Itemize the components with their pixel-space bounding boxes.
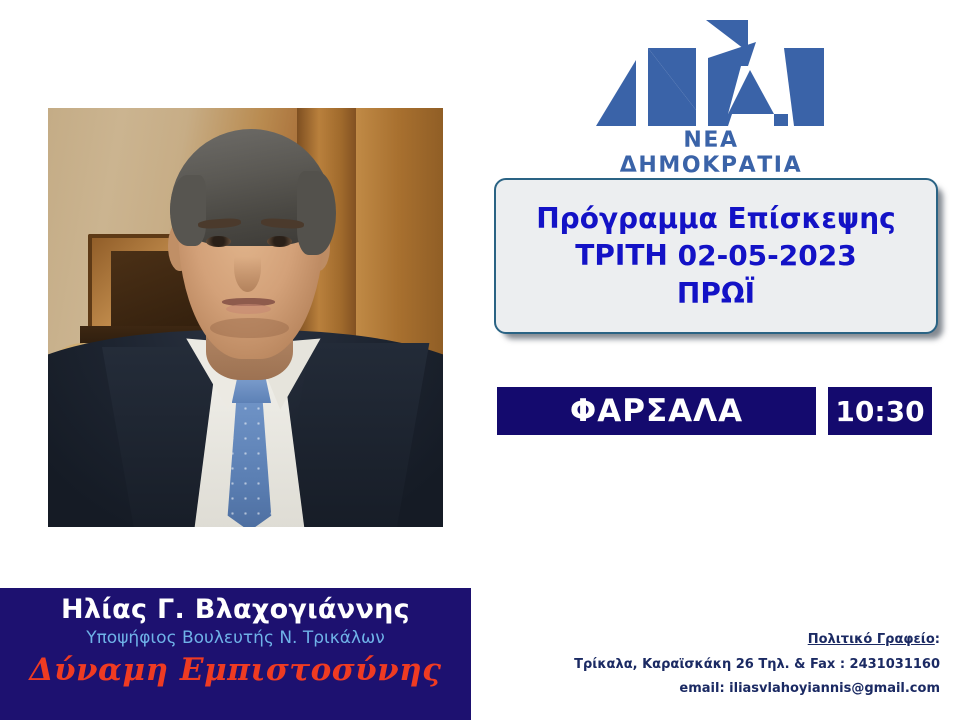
candidate-eye-right	[267, 236, 292, 247]
program-date: ΤΡΙΤΗ 02-05-2023	[575, 237, 856, 274]
candidate-name: Ηλίας Γ. Βλαχογιάννης	[61, 594, 410, 626]
candidate-role: Υποψήφιος Βουλευτής Ν. Τρικάλων	[86, 628, 385, 648]
contact-heading-colon: :	[935, 632, 940, 647]
candidate-photo	[48, 108, 443, 527]
program-title: Πρόγραμμα Επίσκεψης	[536, 200, 896, 237]
location-name: ΦΑΡΣΑΛΑ	[570, 393, 743, 429]
contact-heading: Πολιτικό Γραφείο	[808, 632, 935, 647]
party-wordmark: ΝΕΑ ΔΗΜΟΚΡΑΤΙΑ	[588, 128, 834, 178]
contact-heading-row: Πολιτικό Γραφείο:	[520, 628, 940, 653]
candidate-slogan: Δύναμη Εμπιστοσύνης	[29, 652, 441, 688]
contact-email[interactable]: email: iliasvlahoyiannis@gmail.com	[520, 677, 940, 702]
contact-block: Πολιτικό Γραφείο: Τρίκαλα, Καραϊσκάκη 26…	[520, 628, 940, 702]
candidate-hair-left	[170, 175, 206, 246]
candidate-banner: Ηλίας Γ. Βλαχογιάννης Υποψήφιος Βουλευτή…	[0, 588, 471, 720]
party-logo: ΝΕΑ ΔΗΜΟΚΡΑΤΙΑ	[588, 18, 834, 166]
time-badge: 10:30	[828, 387, 932, 435]
program-part-of-day: ΠΡΩΪ	[677, 275, 755, 312]
nd-logo-icon	[588, 18, 834, 130]
time-value: 10:30	[835, 395, 924, 428]
location-bar: ΦΑΡΣΑΛΑ	[497, 387, 816, 435]
program-panel: Πρόγραμμα Επίσκεψης ΤΡΙΤΗ 02-05-2023 ΠΡΩ…	[494, 178, 938, 334]
candidate-hair-right	[297, 171, 337, 255]
poster-canvas: ΝΕΑ ΔΗΜΟΚΡΑΤΙΑ Πρόγραμμα Επίσκεψης ΤΡΙΤΗ…	[0, 0, 960, 720]
contact-address: Τρίκαλα, Καραϊσκάκη 26 Τηλ. & Fax : 2431…	[520, 653, 940, 678]
candidate-eye-left	[206, 236, 231, 247]
candidate-photo-image	[48, 108, 443, 527]
